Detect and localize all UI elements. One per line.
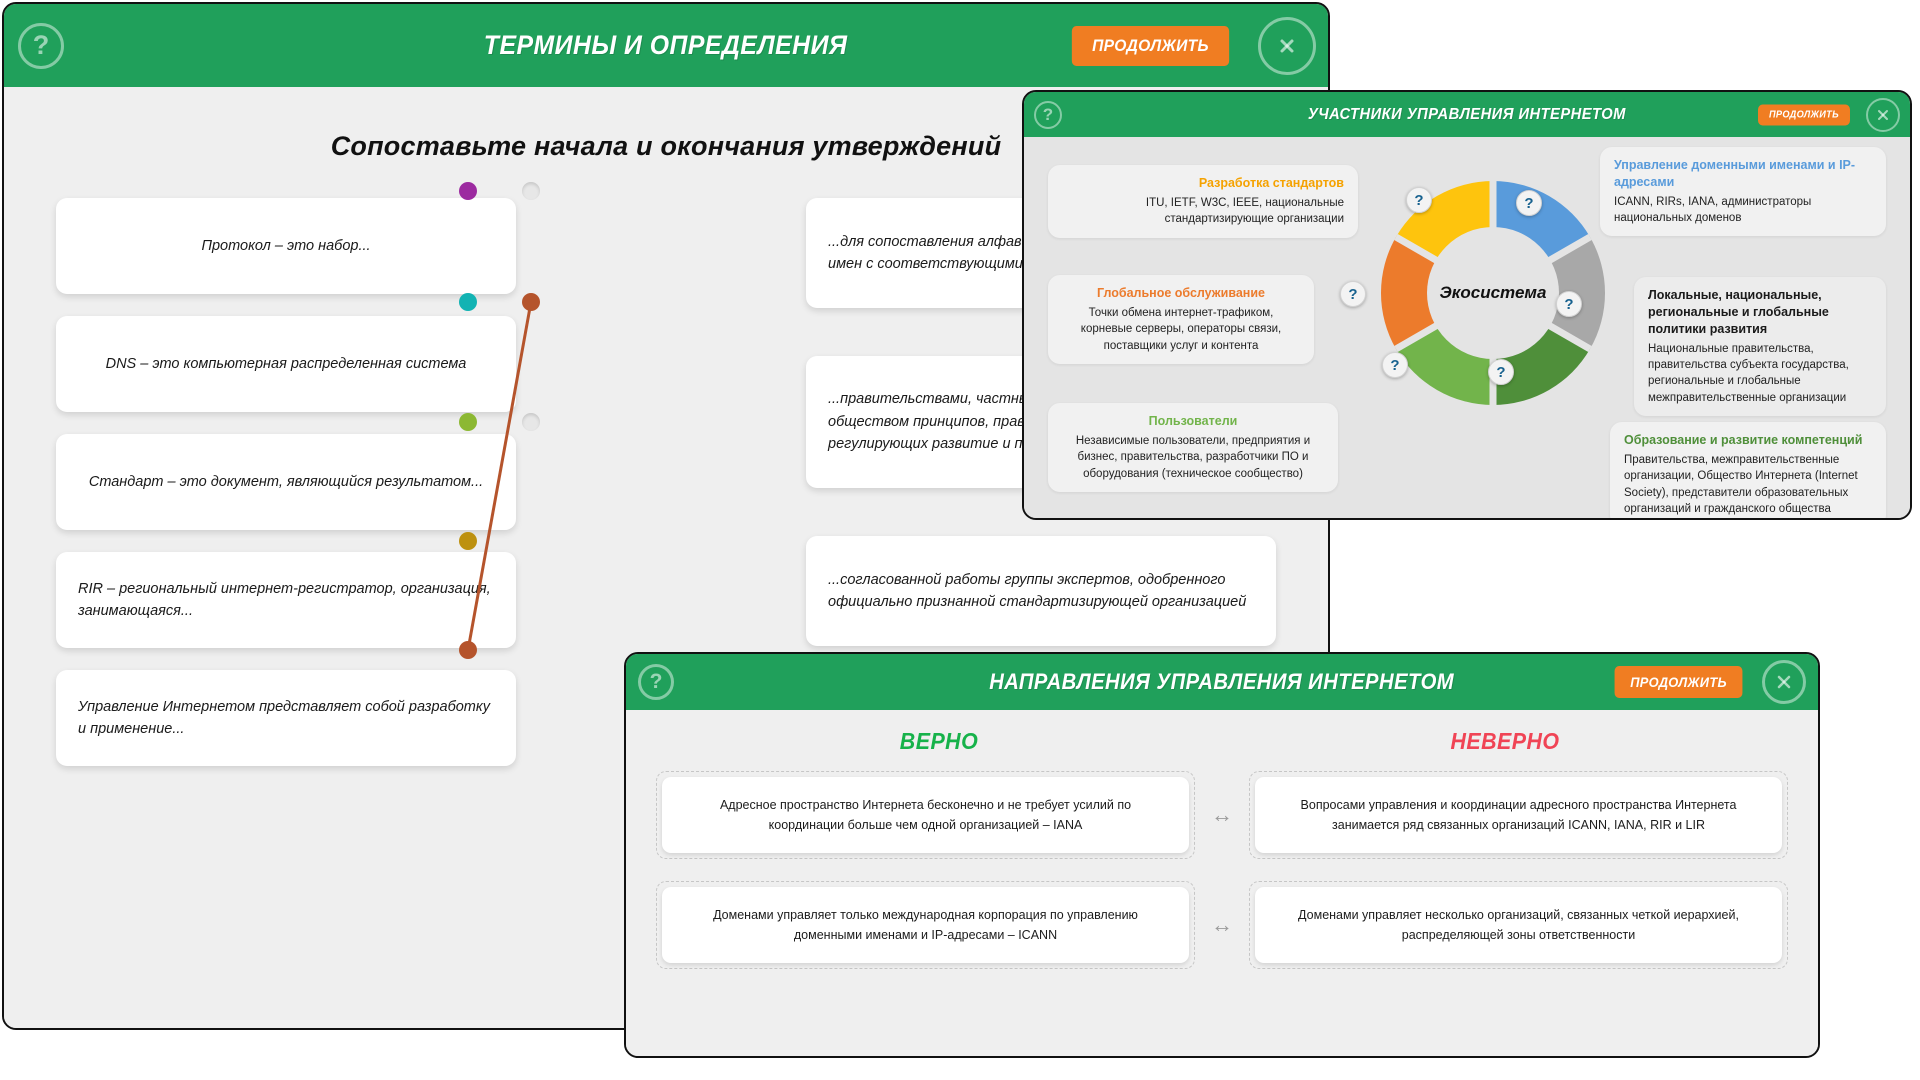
page-title: УЧАСТНИКИ УПРАВЛЕНИЯ ИНТЕРНЕТОМ — [1308, 106, 1626, 124]
panel-internet-governance-actors: ? УЧАСТНИКИ УПРАВЛЕНИЯ ИНТЕРНЕТОМ ПРОДОЛ… — [1022, 90, 1912, 520]
swap-icon[interactable]: ↔ — [1205, 771, 1239, 859]
ecosystem-card-body: ITU, IETF, W3C, IEEE, национальные станд… — [1146, 197, 1344, 225]
panel-directions-body: ВЕРНО НЕВЕРНО Адресное пространство Инте… — [626, 710, 1818, 1058]
match-left-card[interactable]: Управление Интернетом представляет собой… — [56, 670, 516, 766]
help-icon[interactable]: ? — [638, 664, 674, 700]
match-left-card[interactable]: Стандарт – это документ, являющийся резу… — [56, 434, 516, 530]
ecosystem-card-body: Национальные правительства, правительств… — [1648, 343, 1849, 404]
ecosystem-card-heading: Локальные, национальные, региональные и … — [1648, 287, 1872, 338]
hotspot-question-icon[interactable]: ? — [1556, 291, 1582, 317]
ecosystem-card-users[interactable]: Пользователи Независимые пользователи, п… — [1048, 403, 1338, 492]
ecosystem-card-policies[interactable]: Локальные, национальные, региональные и … — [1634, 277, 1886, 416]
panel-actors-header: ? УЧАСТНИКИ УПРАВЛЕНИЯ ИНТЕРНЕТОМ ПРОДОЛ… — [1024, 92, 1910, 137]
drop-slot-correct[interactable]: Адресное пространство Интернета бесконеч… — [656, 771, 1195, 859]
ecosystem-card-heading: Разработка стандартов — [1062, 175, 1344, 192]
statement-card-correct[interactable]: Адресное пространство Интернета бесконеч… — [662, 777, 1189, 853]
continue-button[interactable]: ПРОДОЛЖИТЬ — [1615, 666, 1743, 698]
match-dot-right-empty[interactable] — [522, 413, 540, 431]
ecosystem-card-heading: Глобальное обслуживание — [1062, 285, 1300, 302]
ecosystem-diagram: Экосистема ? ? ? ? ? ? Разработка станда… — [1024, 137, 1910, 520]
hotspot-question-icon[interactable]: ? — [1488, 359, 1514, 385]
close-icon[interactable] — [1258, 17, 1316, 75]
swap-icon[interactable]: ↔ — [1205, 881, 1239, 969]
match-dot-left[interactable] — [459, 641, 477, 659]
ecosystem-card-global-service[interactable]: Глобальное обслуживание Точки обмена инт… — [1048, 275, 1314, 364]
ecosystem-card-heading: Управление доменными именами и IP-адреса… — [1614, 157, 1872, 191]
close-icon[interactable] — [1762, 660, 1806, 704]
continue-button[interactable]: ПРОДОЛЖИТЬ — [1072, 26, 1229, 66]
match-dot-right[interactable] — [522, 293, 540, 311]
panel-terms-header: ? ТЕРМИНЫ И ОПРЕДЕЛЕНИЯ ПРОДОЛЖИТЬ — [4, 4, 1328, 87]
match-left-column: Протокол – это набор... DNS – это компью… — [56, 198, 516, 766]
drop-slot-incorrect[interactable]: Доменами управляет несколько организаций… — [1249, 881, 1788, 969]
ecosystem-card-heading: Пользователи — [1062, 413, 1324, 430]
page-title: НАПРАВЛЕНИЯ УПРАВЛЕНИЯ ИНТЕРНЕТОМ — [990, 669, 1455, 695]
ecosystem-card-domain-management[interactable]: Управление доменными именами и IP-адреса… — [1600, 147, 1886, 236]
match-dot-left[interactable] — [459, 413, 477, 431]
ecosystem-card-education[interactable]: Образование и развитие компетенций Прави… — [1610, 422, 1886, 520]
true-false-rows: Адресное пространство Интернета бесконеч… — [656, 771, 1788, 969]
match-dot-left[interactable] — [459, 293, 477, 311]
panel-directions-header: ? НАПРАВЛЕНИЯ УПРАВЛЕНИЯ ИНТЕРНЕТОМ ПРОД… — [626, 654, 1818, 710]
true-false-row: Адресное пространство Интернета бесконеч… — [656, 771, 1788, 859]
hotspot-question-icon[interactable]: ? — [1516, 190, 1542, 216]
page-title: ТЕРМИНЫ И ОПРЕДЕЛЕНИЯ — [484, 30, 848, 61]
header-correct: ВЕРНО — [676, 728, 1202, 755]
match-dot-left[interactable] — [459, 532, 477, 550]
ecosystem-card-standards[interactable]: Разработка стандартов ITU, IETF, W3C, IE… — [1048, 165, 1358, 238]
panel-internet-governance-directions: ? НАПРАВЛЕНИЯ УПРАВЛЕНИЯ ИНТЕРНЕТОМ ПРОД… — [624, 652, 1820, 1058]
statement-card-correct[interactable]: Доменами управляет только международная … — [662, 887, 1189, 963]
header-incorrect: НЕВЕРНО — [1242, 728, 1768, 755]
ecosystem-card-body: Правительства, межправительственные орга… — [1624, 454, 1858, 515]
hotspot-question-icon[interactable]: ? — [1406, 187, 1432, 213]
help-icon[interactable]: ? — [1034, 101, 1062, 129]
help-icon[interactable]: ? — [18, 23, 64, 69]
statement-card-incorrect[interactable]: Доменами управляет несколько организаций… — [1255, 887, 1782, 963]
panel-actors-body: Экосистема ? ? ? ? ? ? Разработка станда… — [1024, 137, 1910, 520]
drop-slot-correct[interactable]: Доменами управляет только международная … — [656, 881, 1195, 969]
true-false-headers: ВЕРНО НЕВЕРНО — [656, 728, 1788, 755]
ecosystem-card-heading: Образование и развитие компетенций — [1624, 432, 1872, 449]
ecosystem-card-body: ICANN, RIRs, IANA, администраторы национ… — [1614, 196, 1811, 224]
match-right-card[interactable]: ...согласованной работы группы экспертов… — [806, 536, 1276, 646]
drop-slot-incorrect[interactable]: Вопросами управления и координации адрес… — [1249, 771, 1788, 859]
match-dot-right-empty[interactable] — [522, 182, 540, 200]
ecosystem-card-body: Точки обмена интернет-трафиком, корневые… — [1081, 307, 1281, 352]
match-dot-left[interactable] — [459, 182, 477, 200]
close-icon[interactable] — [1866, 98, 1900, 132]
continue-button[interactable]: ПРОДОЛЖИТЬ — [1758, 104, 1850, 125]
hotspot-question-icon[interactable]: ? — [1340, 281, 1366, 307]
statement-card-incorrect[interactable]: Вопросами управления и координации адрес… — [1255, 777, 1782, 853]
ecosystem-card-body: Независимые пользователи, предприятия и … — [1076, 435, 1310, 480]
true-false-row: Доменами управляет только международная … — [656, 881, 1788, 969]
hotspot-question-icon[interactable]: ? — [1382, 352, 1408, 378]
match-left-card[interactable]: RIR – региональный интернет-регистратор,… — [56, 552, 516, 648]
match-left-card[interactable]: Протокол – это набор... — [56, 198, 516, 294]
match-left-card[interactable]: DNS – это компьютерная распределенная си… — [56, 316, 516, 412]
